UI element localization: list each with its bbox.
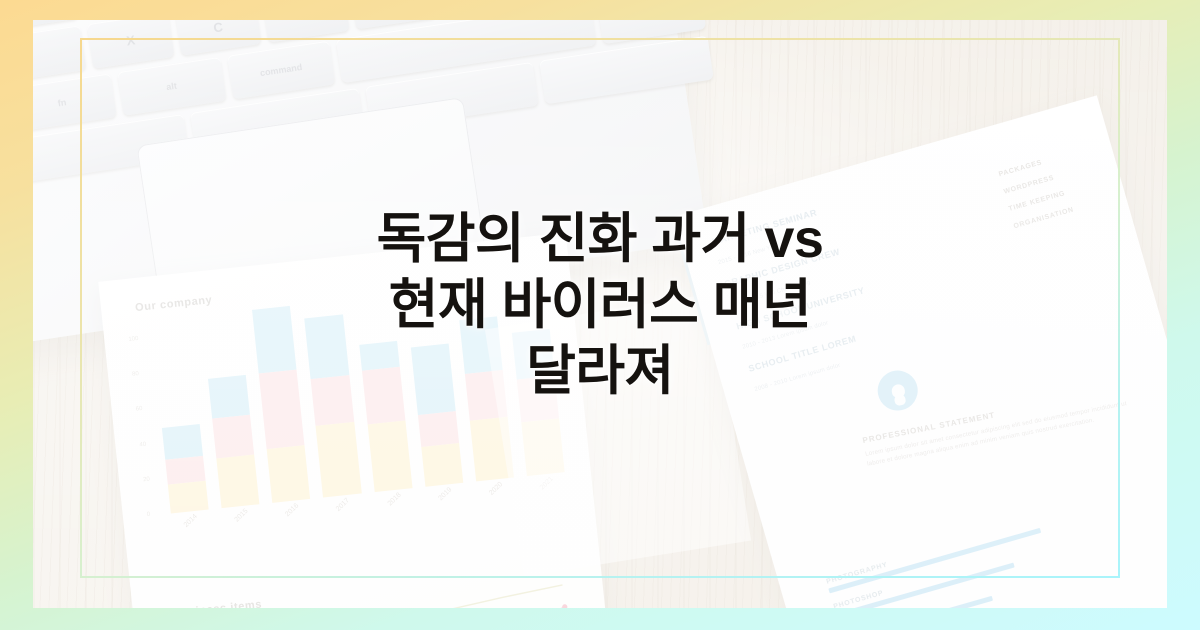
chart-bar (162, 424, 209, 514)
title-line-3: 달라져 (120, 338, 1080, 404)
keyboard-key-fn: fn (33, 73, 117, 132)
keyboard-key-alt: alt (117, 56, 226, 115)
title-line-2: 현재 바이러스 매년 (120, 272, 1080, 338)
keyboard-key-command: command (226, 40, 335, 99)
report-subtitle: Business items (173, 599, 263, 608)
y-tick: 0 (147, 511, 158, 518)
y-tick: 60 (136, 406, 147, 413)
chart-bar-segment (367, 420, 412, 492)
resume-skills: PHOTOGRAPHY PHOTOSHOP ILLUSTRATOR (826, 510, 1088, 608)
chart-bar-segment (162, 424, 203, 460)
y-tick: 20 (143, 476, 154, 483)
keyboard-key (33, 25, 87, 81)
y-tick: 40 (139, 441, 150, 448)
title-block: 독감의 진화 과거 vs 현재 바이러스 매년 달라져 (0, 206, 1200, 404)
keyboard-key: C (175, 20, 262, 55)
thumbnail-card: D F G H J N X C V B N M fn alt co (0, 0, 1200, 630)
chart-bar-segment (212, 415, 254, 458)
chart-bar-segment (418, 411, 459, 447)
keyboard-key: X (87, 20, 174, 68)
title-line-1: 독감의 진화 과거 vs (120, 206, 1080, 272)
chart-bar-segment (316, 422, 361, 498)
